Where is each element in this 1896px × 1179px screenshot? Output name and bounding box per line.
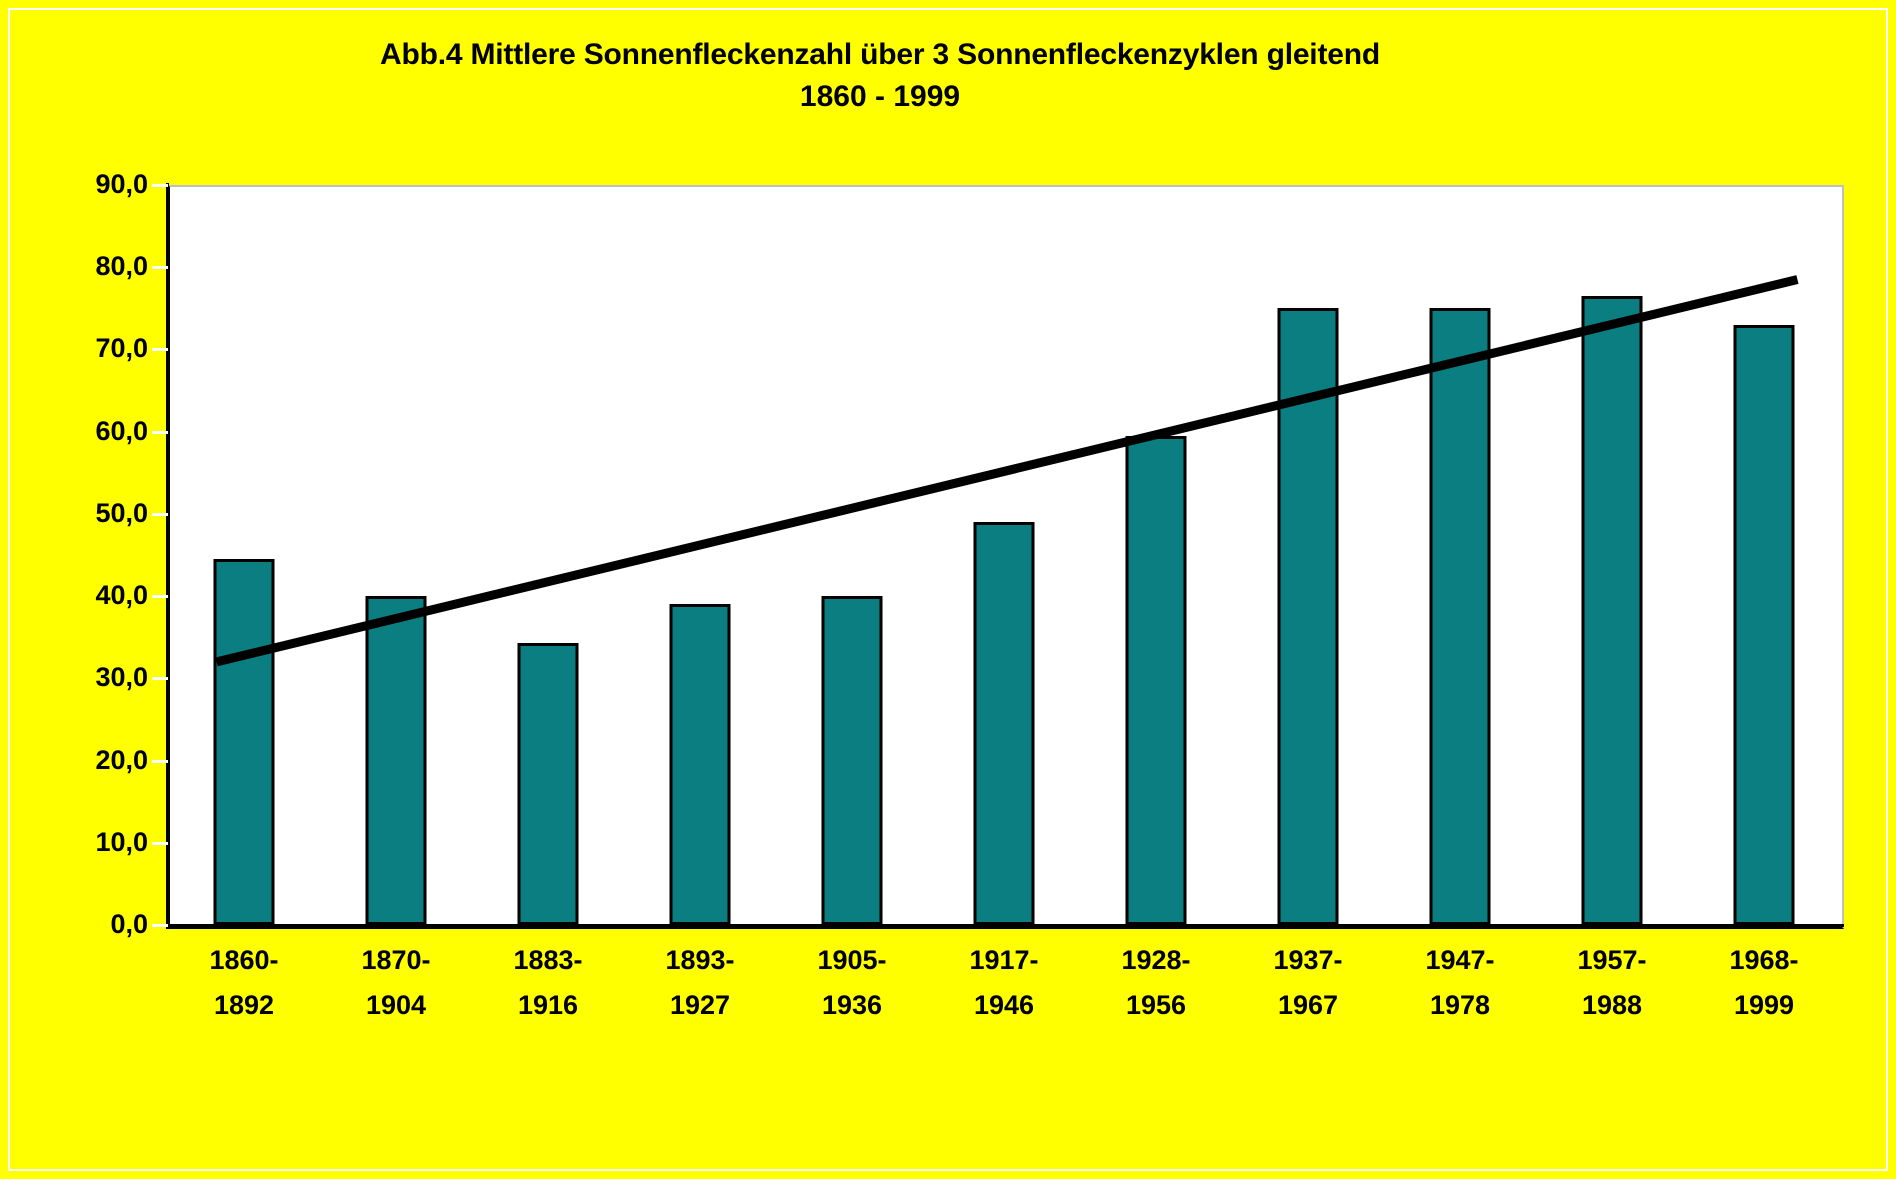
x-axis-tick-label-line: 1860- bbox=[168, 938, 320, 983]
y-axis-tick bbox=[152, 760, 168, 763]
x-axis-tick-label-line: 1927 bbox=[624, 983, 776, 1028]
x-axis-tick-label: 1860-1892 bbox=[168, 938, 320, 1028]
x-axis-tick-label-line: 1870- bbox=[320, 938, 472, 983]
x-axis-tick-label-line: 1947- bbox=[1384, 938, 1536, 983]
page-subtitle: 1860 - 1999 bbox=[0, 76, 1760, 118]
bar[interactable] bbox=[1582, 296, 1643, 925]
bar[interactable] bbox=[518, 643, 579, 925]
y-axis-tick-label: 40,0 bbox=[48, 582, 148, 609]
x-axis-tick-label-line: 1883- bbox=[472, 938, 624, 983]
bar[interactable] bbox=[366, 596, 427, 925]
x-axis-tick-label-line: 1999 bbox=[1688, 983, 1840, 1028]
y-axis-tick-label: 30,0 bbox=[48, 664, 148, 691]
y-axis-tick-label: 10,0 bbox=[48, 829, 148, 856]
x-axis-tick-label-line: 1967 bbox=[1232, 983, 1384, 1028]
x-axis-tick-label: 1870-1904 bbox=[320, 938, 472, 1028]
bar[interactable] bbox=[1430, 308, 1491, 925]
x-axis-tick-label: 1937-1967 bbox=[1232, 938, 1384, 1028]
x-axis-tick-label: 1917-1946 bbox=[928, 938, 1080, 1028]
x-axis-tick-label-line: 1904 bbox=[320, 983, 472, 1028]
bar[interactable] bbox=[1126, 436, 1187, 925]
y-axis-tick-label: 60,0 bbox=[48, 418, 148, 445]
y-axis-tick-label: 20,0 bbox=[48, 747, 148, 774]
x-axis-labels: 1860-18921870-19041883-19161893-19271905… bbox=[168, 938, 1840, 1058]
y-axis-tick bbox=[152, 842, 168, 845]
y-axis-tick bbox=[152, 513, 168, 516]
bar[interactable] bbox=[974, 522, 1035, 925]
x-axis-tick-label-line: 1937- bbox=[1232, 938, 1384, 983]
bar-slot bbox=[1688, 185, 1840, 925]
x-axis-tick-label-line: 1928- bbox=[1080, 938, 1232, 983]
y-axis-tick bbox=[152, 184, 168, 187]
y-axis-tick bbox=[152, 431, 168, 434]
bar-slot bbox=[1384, 185, 1536, 925]
bar-slot bbox=[168, 185, 320, 925]
bar-slot bbox=[624, 185, 776, 925]
x-axis-tick-label-line: 1893- bbox=[624, 938, 776, 983]
x-axis-tick-label: 1893-1927 bbox=[624, 938, 776, 1028]
bar[interactable] bbox=[214, 559, 275, 925]
x-axis-tick-label: 1905-1936 bbox=[776, 938, 928, 1028]
bar-slot bbox=[320, 185, 472, 925]
x-axis-tick-label-line: 1917- bbox=[928, 938, 1080, 983]
y-axis-tick-label: 80,0 bbox=[48, 253, 148, 280]
x-axis-tick-label: 1947-1978 bbox=[1384, 938, 1536, 1028]
y-axis-tick-label: 70,0 bbox=[48, 335, 148, 362]
bar-slot bbox=[472, 185, 624, 925]
x-axis-tick-label: 1968-1999 bbox=[1688, 938, 1840, 1028]
x-axis-tick-label: 1957-1988 bbox=[1536, 938, 1688, 1028]
x-axis-tick-label: 1883-1916 bbox=[472, 938, 624, 1028]
bar[interactable] bbox=[1734, 325, 1795, 925]
bar-slot bbox=[776, 185, 928, 925]
bar-slot bbox=[928, 185, 1080, 925]
x-axis-tick-label-line: 1936 bbox=[776, 983, 928, 1028]
x-axis-tick-label: 1928-1956 bbox=[1080, 938, 1232, 1028]
bars-layer bbox=[168, 185, 1840, 925]
page-title: Abb.4 Mittlere Sonnenfleckenzahl über 3 … bbox=[0, 34, 1760, 76]
x-axis-tick-label-line: 1968- bbox=[1688, 938, 1840, 983]
bar-slot bbox=[1080, 185, 1232, 925]
y-axis-tick bbox=[152, 595, 168, 598]
y-axis-tick bbox=[152, 924, 168, 927]
x-axis-tick-label-line: 1946 bbox=[928, 983, 1080, 1028]
y-axis-tick-label: 0,0 bbox=[48, 911, 148, 938]
x-axis-tick-label-line: 1892 bbox=[168, 983, 320, 1028]
title-block: Abb.4 Mittlere Sonnenfleckenzahl über 3 … bbox=[0, 34, 1760, 118]
x-axis-tick-label-line: 1905- bbox=[776, 938, 928, 983]
y-axis-labels: 90,080,070,060,050,040,030,020,010,00,0 bbox=[40, 0, 148, 1179]
y-axis-tick bbox=[152, 266, 168, 269]
bar-slot bbox=[1232, 185, 1384, 925]
y-axis-tick-label: 50,0 bbox=[48, 500, 148, 527]
x-axis-tick-label-line: 1988 bbox=[1536, 983, 1688, 1028]
chart-page: Abb.4 Mittlere Sonnenfleckenzahl über 3 … bbox=[0, 0, 1896, 1179]
x-axis-tick-label-line: 1956 bbox=[1080, 983, 1232, 1028]
x-axis-tick-label-line: 1978 bbox=[1384, 983, 1536, 1028]
x-axis-tick-label-line: 1957- bbox=[1536, 938, 1688, 983]
x-axis-tick-label-line: 1916 bbox=[472, 983, 624, 1028]
y-axis-tick bbox=[152, 677, 168, 680]
bar[interactable] bbox=[670, 604, 731, 925]
y-axis-tick bbox=[152, 348, 168, 351]
bar-slot bbox=[1536, 185, 1688, 925]
bar[interactable] bbox=[822, 596, 883, 925]
bar[interactable] bbox=[1278, 308, 1339, 925]
y-axis-tick-label: 90,0 bbox=[48, 171, 148, 198]
